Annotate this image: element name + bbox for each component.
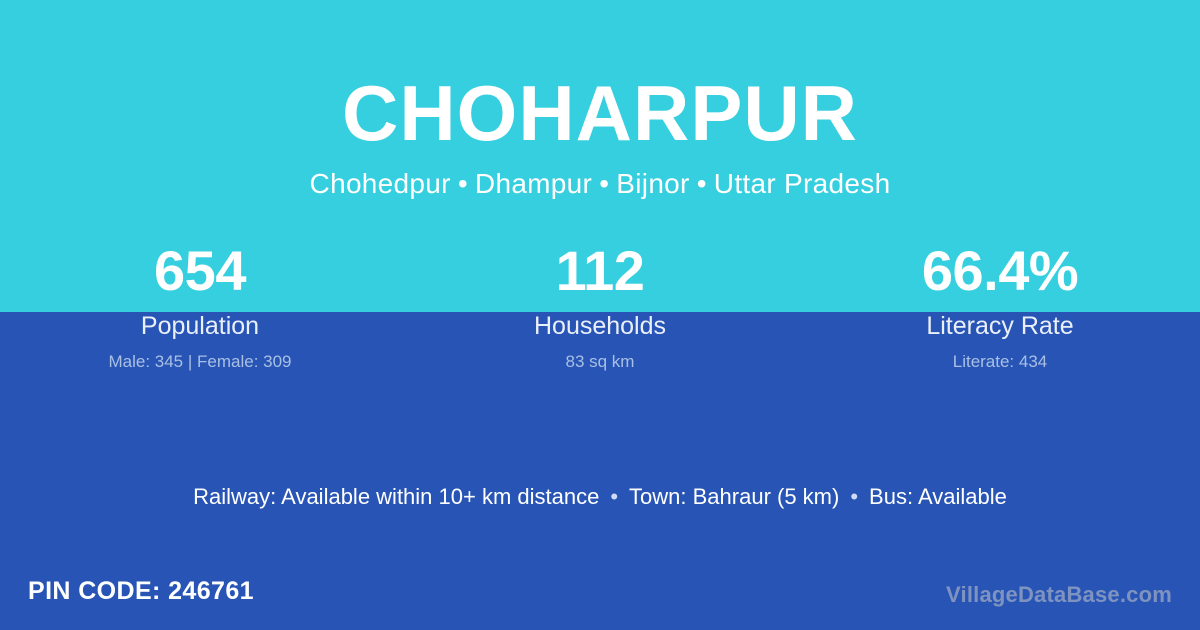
stat-label: Population [0, 311, 400, 341]
breadcrumb-separator: • [592, 168, 616, 199]
stat-value: 654 [0, 242, 400, 301]
stats-row: 654 Population Male: 345 | Female: 309 1… [0, 242, 1200, 372]
breadcrumb-item-village: Chohedpur [310, 168, 451, 199]
breadcrumb-separator: • [451, 168, 475, 199]
footer: PIN CODE: 246761 VillageDataBase.com [0, 560, 1200, 630]
stat-value: 66.4% [800, 242, 1200, 301]
stat-literacy-rate: 66.4% Literacy Rate Literate: 434 [800, 242, 1200, 372]
stat-sublabel: Literate: 434 [800, 352, 1200, 372]
breadcrumb-separator: • [690, 168, 714, 199]
stat-households: 112 Households 83 sq km [400, 242, 800, 372]
amenity-separator: • [599, 484, 629, 509]
breadcrumb-item-district: Bijnor [616, 168, 689, 199]
amenities-line: Railway: Available within 10+ km distanc… [0, 484, 1200, 510]
site-watermark: VillageDataBase.com [946, 582, 1172, 608]
stat-label: Literacy Rate [800, 311, 1200, 341]
amenity-town: Town: Bahraur (5 km) [629, 484, 839, 509]
breadcrumb-item-state: Uttar Pradesh [714, 168, 891, 199]
breadcrumb-item-block: Dhampur [475, 168, 592, 199]
stat-label: Households [400, 311, 800, 341]
page-title: CHOHARPUR [0, 74, 1200, 154]
amenity-separator: • [839, 484, 869, 509]
amenity-bus: Bus: Available [869, 484, 1007, 509]
stat-value: 112 [400, 242, 800, 301]
stat-sublabel: Male: 345 | Female: 309 [0, 352, 400, 372]
stat-sublabel: 83 sq km [400, 352, 800, 372]
amenity-railway: Railway: Available within 10+ km distanc… [193, 484, 599, 509]
village-info-card: CHOHARPUR Chohedpur•Dhampur•Bijnor•Uttar… [0, 0, 1200, 630]
stat-population: 654 Population Male: 345 | Female: 309 [0, 242, 400, 372]
breadcrumb: Chohedpur•Dhampur•Bijnor•Uttar Pradesh [0, 168, 1200, 200]
hero-section: CHOHARPUR Chohedpur•Dhampur•Bijnor•Uttar… [0, 0, 1200, 200]
pin-code-label: PIN CODE: 246761 [28, 577, 254, 606]
